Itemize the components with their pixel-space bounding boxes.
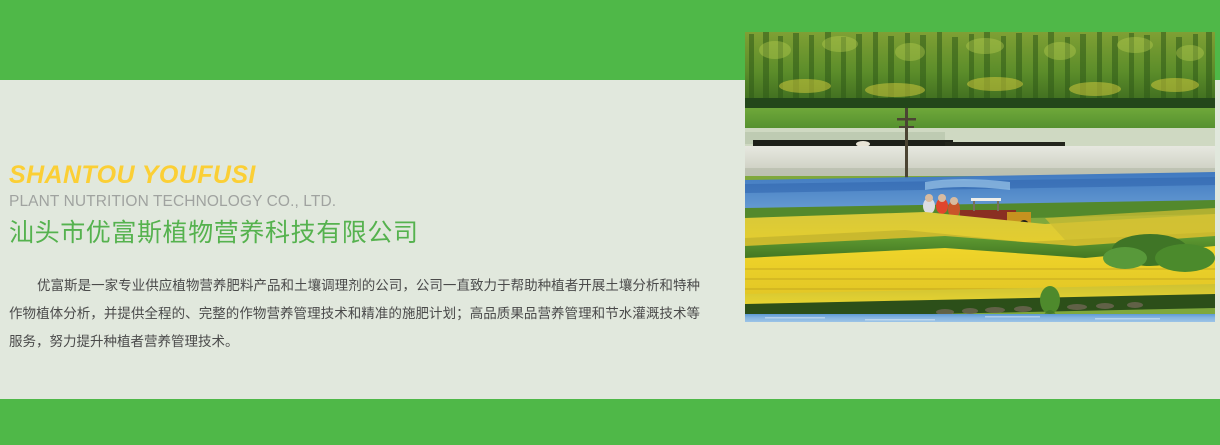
bottom-green-banner <box>0 399 1220 445</box>
brand-name-english: SHANTOU YOUFUSI <box>0 160 715 190</box>
brand-name-chinese: 汕头市优富斯植物营养科技有限公司 <box>0 212 715 250</box>
farmland-photo <box>745 32 1215 322</box>
company-intro-block: SHANTOU YOUFUSI PLANT NUTRITION TECHNOLO… <box>0 160 715 356</box>
company-intro-paragraph: 优富斯是一家专业供应植物营养肥料产品和土壤调理剂的公司，公司一直致力于帮助种植者… <box>0 250 700 356</box>
farmland-photo-illustration <box>745 32 1215 322</box>
page-root: SHANTOU YOUFUSI PLANT NUTRITION TECHNOLO… <box>0 0 1220 445</box>
brand-descriptor-english: PLANT NUTRITION TECHNOLOGY CO., LTD. <box>0 190 715 212</box>
